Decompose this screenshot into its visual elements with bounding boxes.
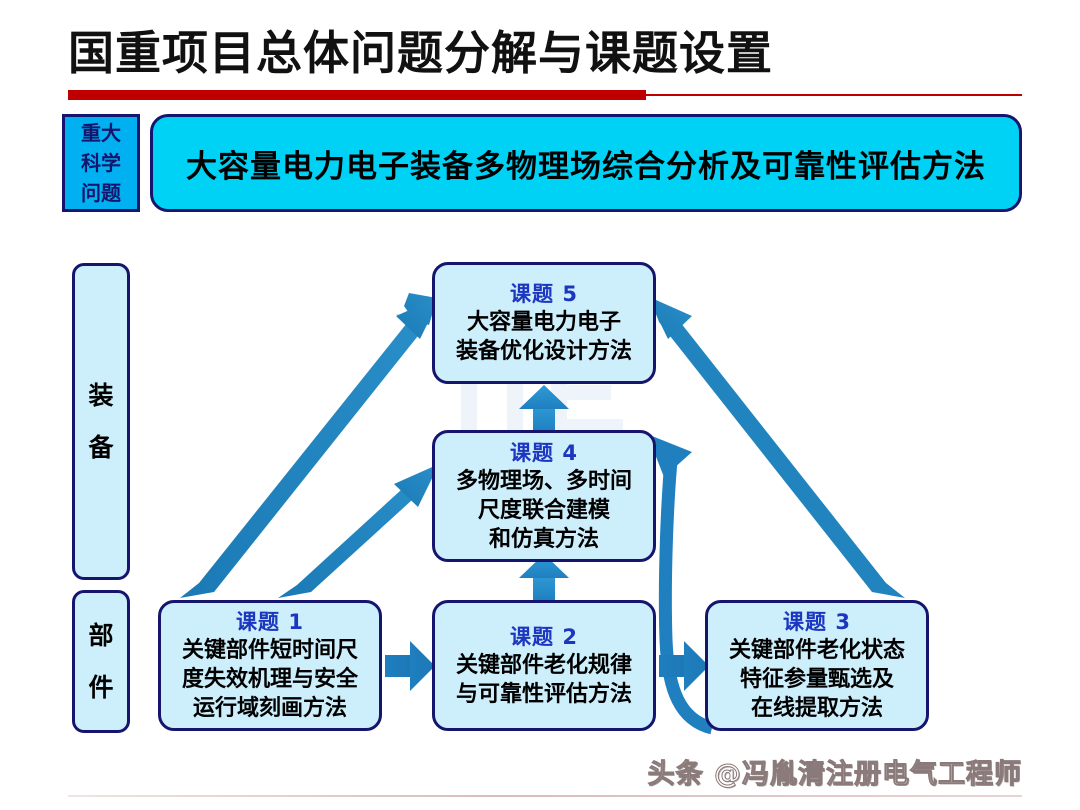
topic-5-head: 课题 5 bbox=[510, 280, 578, 308]
arrow-topic4-to-topic5 bbox=[519, 385, 569, 432]
arrow-topic1-to-topic5 bbox=[180, 293, 441, 598]
topic-box-1[interactable]: 课题 1 关键部件短时间尺 度失效机理与安全 运行域刻画方法 bbox=[158, 600, 382, 731]
arrow-topic3-to-topic5 bbox=[647, 296, 905, 598]
topic-2-body: 关键部件老化规律 与可靠性评估方法 bbox=[456, 651, 632, 709]
topic-2-head: 课题 2 bbox=[510, 623, 578, 651]
topic-3-body: 关键部件老化状态 特征参量甄选及 在线提取方法 bbox=[729, 636, 905, 723]
topic-5-body: 大容量电力电子 装备优化设计方法 bbox=[456, 308, 632, 366]
topic-1-head: 课题 1 bbox=[236, 608, 304, 636]
topic-4-head: 课题 4 bbox=[510, 439, 578, 467]
topic-box-2[interactable]: 课题 2 关键部件老化规律 与可靠性评估方法 bbox=[432, 600, 656, 731]
topic-box-4[interactable]: 课题 4 多物理场、多时间 尺度联合建模 和仿真方法 bbox=[432, 430, 656, 562]
topic-box-3[interactable]: 课题 3 关键部件老化状态 特征参量甄选及 在线提取方法 bbox=[705, 600, 929, 731]
arrow-topic1-to-topic2 bbox=[385, 641, 435, 691]
topic-box-5[interactable]: 课题 5 大容量电力电子 装备优化设计方法 bbox=[432, 262, 656, 384]
slide-canvas: 国重项目总体问题分解与课题设置 重大 科学 问题 大容量电力电子装备多物理场综合… bbox=[0, 0, 1080, 810]
arrow-topic3-to-topic4 bbox=[647, 434, 712, 728]
topic-3-head: 课题 3 bbox=[783, 608, 851, 636]
arrow-topic1-to-topic4 bbox=[278, 464, 439, 598]
topic-4-body: 多物理场、多时间 尺度联合建模 和仿真方法 bbox=[456, 467, 632, 554]
topic-1-body: 关键部件短时间尺 度失效机理与安全 运行域刻画方法 bbox=[182, 636, 358, 723]
